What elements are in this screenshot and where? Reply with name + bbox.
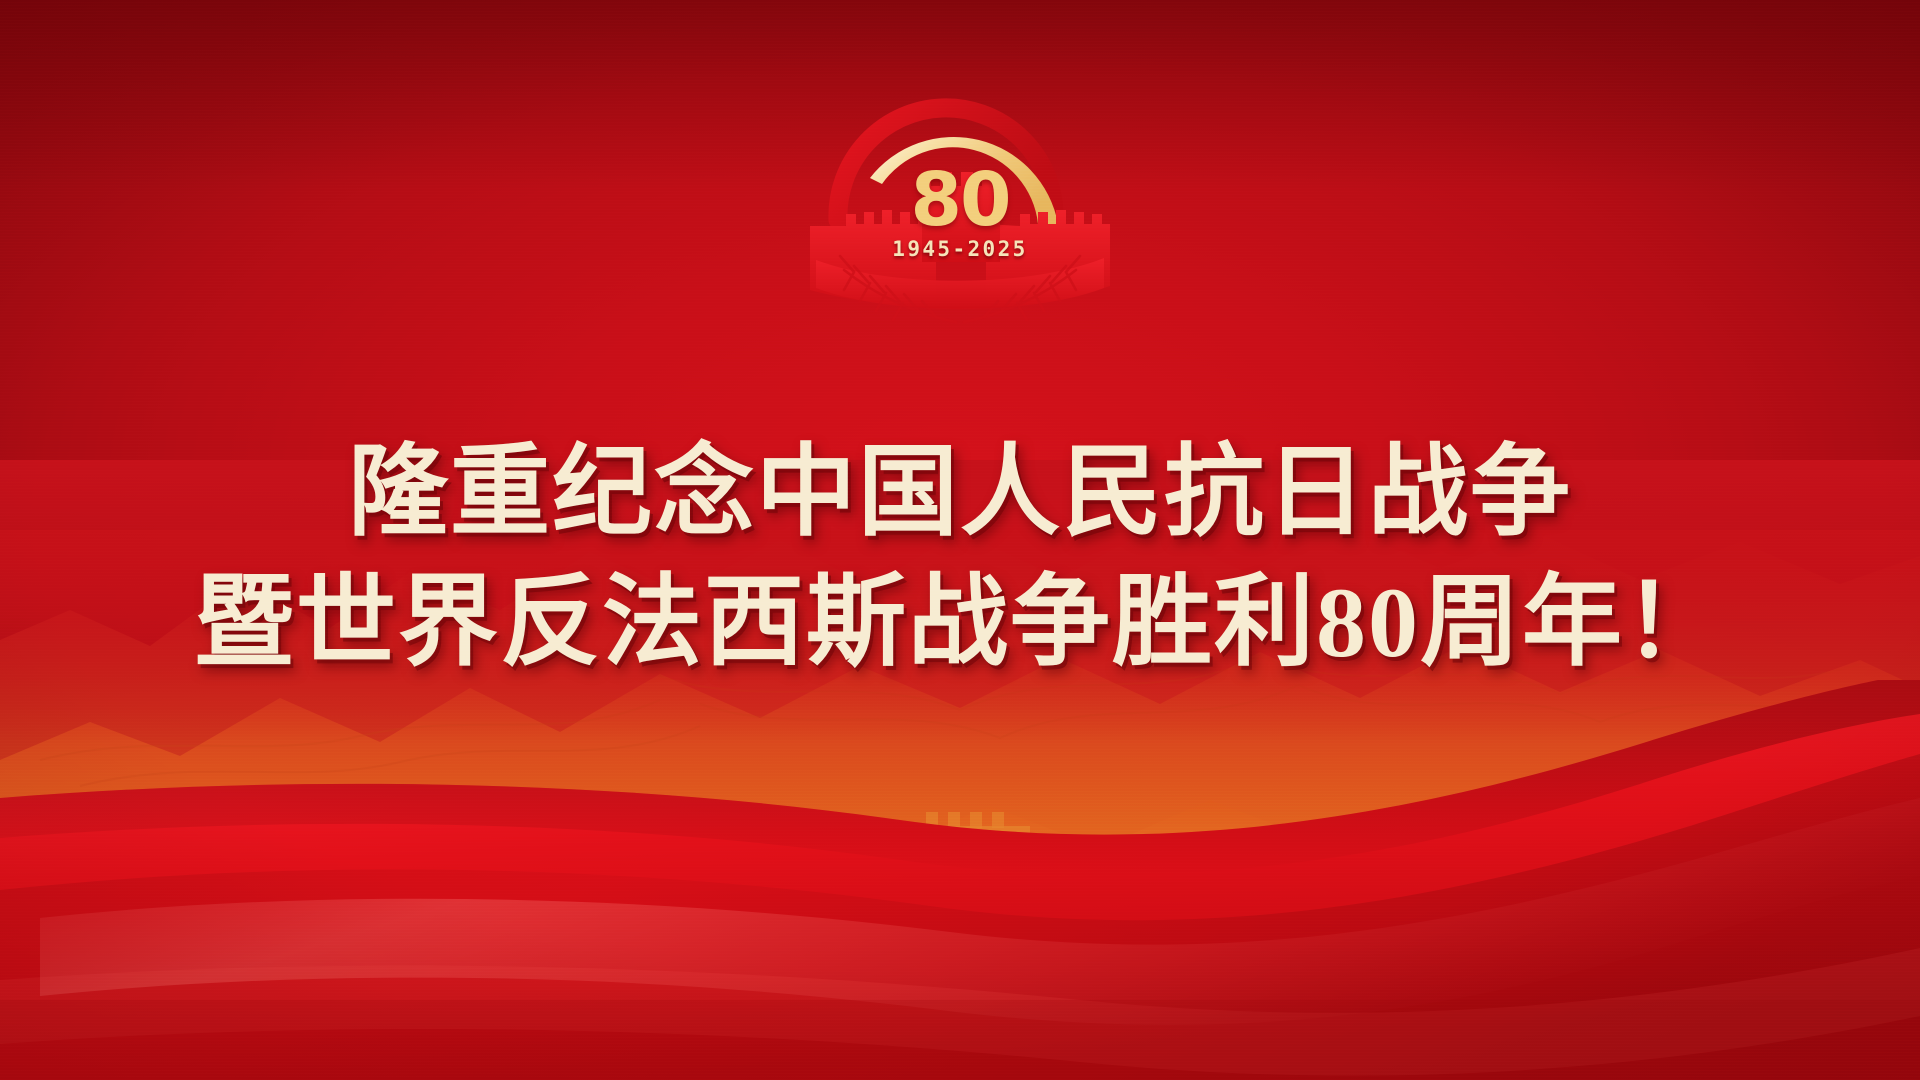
poster-canvas: 80 1945-2025 隆重纪念中国人民抗日战争 暨世界反法西斯战争胜利80周… — [0, 0, 1920, 1080]
background-vignette — [0, 0, 1920, 1080]
